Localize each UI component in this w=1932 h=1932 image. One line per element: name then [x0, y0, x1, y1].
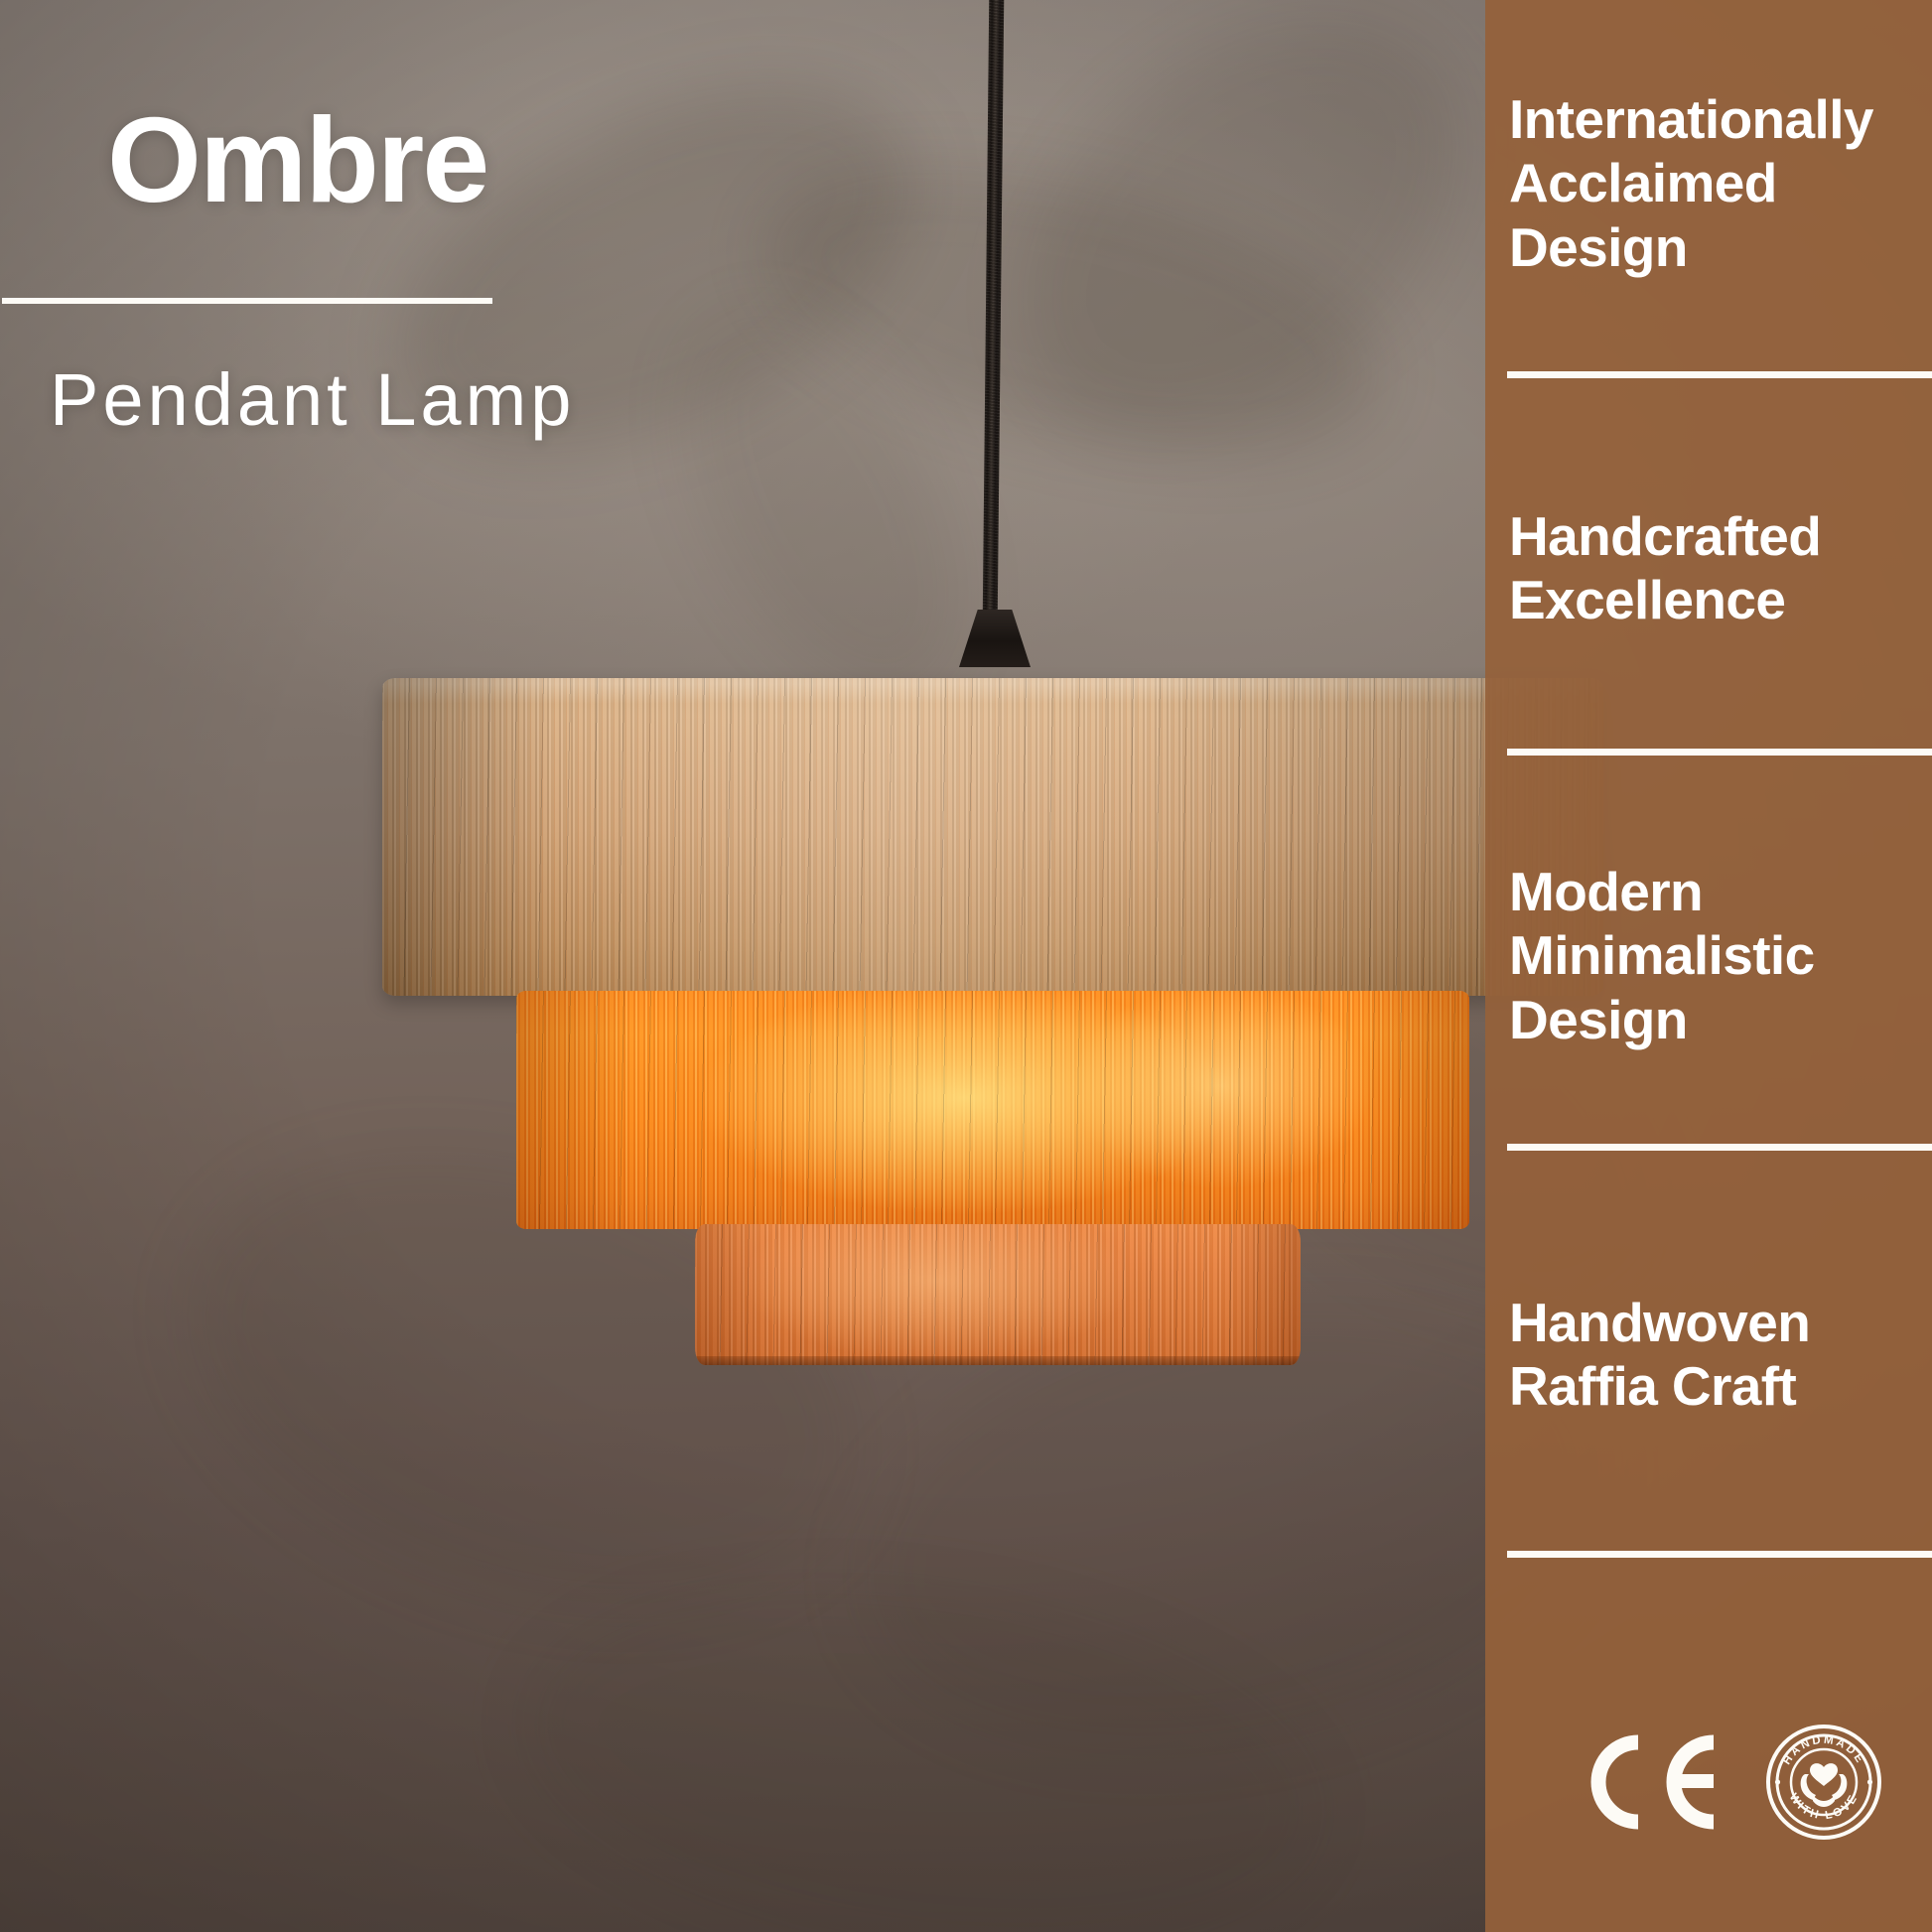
product-title: Ombre: [107, 99, 487, 220]
certification-badges: HANDMADE WITH LOVE: [1577, 1724, 1882, 1841]
middle-tier-glow: [516, 991, 1469, 1229]
handmade-with-love-seal-icon: HANDMADE WITH LOVE: [1765, 1724, 1882, 1841]
feature-divider-3: [1507, 1144, 1932, 1151]
lamp-middle-tier: [516, 991, 1469, 1229]
bottom-tier-shading: [695, 1224, 1301, 1365]
title-underline-rule: [2, 298, 492, 304]
bottom-tier-rim: [695, 1356, 1301, 1365]
feature-divider-4: [1507, 1551, 1932, 1558]
feature-item-1: Internationally Acclaimed Design: [1509, 87, 1918, 279]
heart-icon: [1810, 1763, 1838, 1786]
feature-item-4: Handwoven Raffia Craft: [1509, 1291, 1918, 1419]
feature-item-3: Modern Minimalistic Design: [1509, 860, 1918, 1051]
ce-mark-icon: [1577, 1728, 1725, 1836]
product-subtitle: Pendant Lamp: [50, 363, 575, 437]
feature-divider-2: [1507, 749, 1932, 756]
lamp-top-tier: [382, 678, 1603, 996]
lamp-bottom-tier: [695, 1224, 1301, 1365]
features-panel: Internationally Acclaimed Design Handcra…: [1485, 0, 1932, 1932]
feature-item-2: Handcrafted Excellence: [1509, 504, 1918, 632]
top-tier-shading: [382, 678, 1603, 996]
feature-divider-1: [1507, 371, 1932, 378]
hands-base-icon: [1813, 1795, 1835, 1807]
product-marketing-banner: Ombre Pendant Lamp Internationally Accla…: [0, 0, 1932, 1932]
